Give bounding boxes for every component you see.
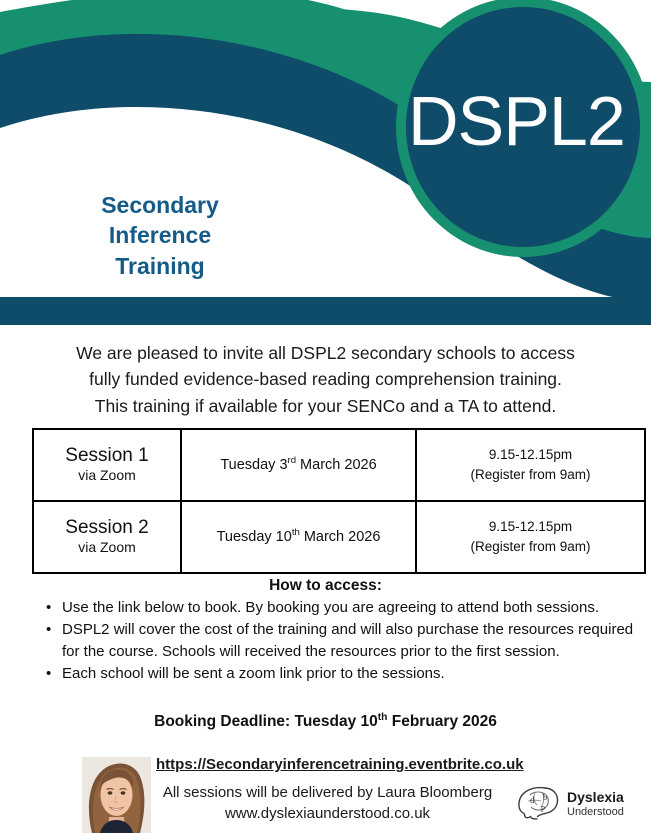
deadline-ordinal: th xyxy=(378,712,388,723)
presenter-portrait-image xyxy=(82,757,151,833)
session-time-cell: 9.15-12.15pm (Register from 9am) xyxy=(416,501,645,573)
session-date-prefix: Tuesday 10 xyxy=(217,529,292,545)
how-to-access-list: Use the link below to book. By booking y… xyxy=(42,597,651,685)
deadline-suffix: February 2026 xyxy=(387,713,496,730)
page-title-line-1: Secondary xyxy=(56,190,264,220)
dyslexia-understood-logo: d b p Dyslexia Understood xyxy=(512,782,630,822)
session-date-ordinal: rd xyxy=(288,455,297,466)
session-platform: via Zoom xyxy=(38,467,176,485)
delivered-by-block: All sessions will be delivered by Laura … xyxy=(150,782,505,825)
how-to-access-heading: How to access: xyxy=(32,577,619,595)
presenter-name-line: All sessions will be delivered by Laura … xyxy=(150,782,505,803)
page-title-line-3: Training xyxy=(56,251,264,281)
session-date-cell: Tuesday 3rd March 2026 xyxy=(181,429,416,501)
session-time-cell: 9.15-12.15pm (Register from 9am) xyxy=(416,429,645,501)
booking-deadline: Booking Deadline: Tuesday 10th February … xyxy=(32,713,619,731)
flyer-page: DSPL2 Secondary Inference Training We ar… xyxy=(0,0,651,833)
intro-paragraph: We are pleased to invite all DSPL2 secon… xyxy=(32,340,619,419)
presenter-website: www.dyslexiaunderstood.co.uk xyxy=(150,803,505,824)
table-row: Session 1 via Zoom Tuesday 3rd March 202… xyxy=(33,429,645,501)
session-date-suffix: March 2026 xyxy=(300,529,381,545)
session-name: Session 2 xyxy=(38,517,176,539)
logo-wordmark-line-1: Dyslexia xyxy=(567,789,624,805)
logo-letter-p: p xyxy=(541,803,545,812)
logo-letter-b: b xyxy=(543,793,547,802)
intro-line-3: This training if available for your SENC… xyxy=(32,393,619,419)
session-platform: via Zoom xyxy=(38,539,176,557)
list-item: Use the link below to book. By booking y… xyxy=(62,597,651,618)
logo-wordmark-line-2: Understood xyxy=(567,806,624,818)
presenter-photo xyxy=(82,757,151,833)
brain-head-icon: d b p Dyslexia Understood xyxy=(512,782,630,822)
page-title-line-2: Inference xyxy=(56,220,264,250)
session-register-note: (Register from 9am) xyxy=(421,465,640,485)
session-time: 9.15-12.15pm xyxy=(421,517,640,537)
list-item: Each school will be sent a zoom link pri… xyxy=(62,663,651,684)
page-title: Secondary Inference Training xyxy=(56,190,264,281)
sessions-table: Session 1 via Zoom Tuesday 3rd March 202… xyxy=(32,428,646,574)
session-register-note: (Register from 9am) xyxy=(421,537,640,557)
session-date-prefix: Tuesday 3 xyxy=(220,457,287,473)
logo-letter-d: d xyxy=(530,795,535,805)
session-cell: Session 2 via Zoom xyxy=(33,501,181,573)
list-item: DSPL2 will cover the cost of the trainin… xyxy=(62,619,651,662)
deadline-prefix: Booking Deadline: Tuesday 10 xyxy=(154,713,378,730)
booking-link[interactable]: https://Secondaryinferencetraining.event… xyxy=(156,756,501,773)
session-date-ordinal: th xyxy=(292,527,300,538)
session-name: Session 1 xyxy=(38,445,176,467)
header-banner: DSPL2 Secondary Inference Training xyxy=(0,0,651,326)
intro-line-2: fully funded evidence-based reading comp… xyxy=(32,366,619,392)
intro-line-1: We are pleased to invite all DSPL2 secon… xyxy=(32,340,619,366)
session-date-cell: Tuesday 10th March 2026 xyxy=(181,501,416,573)
session-date-suffix: March 2026 xyxy=(296,457,377,473)
table-row: Session 2 via Zoom Tuesday 10th March 20… xyxy=(33,501,645,573)
session-time: 9.15-12.15pm xyxy=(421,445,640,465)
session-cell: Session 1 via Zoom xyxy=(33,429,181,501)
